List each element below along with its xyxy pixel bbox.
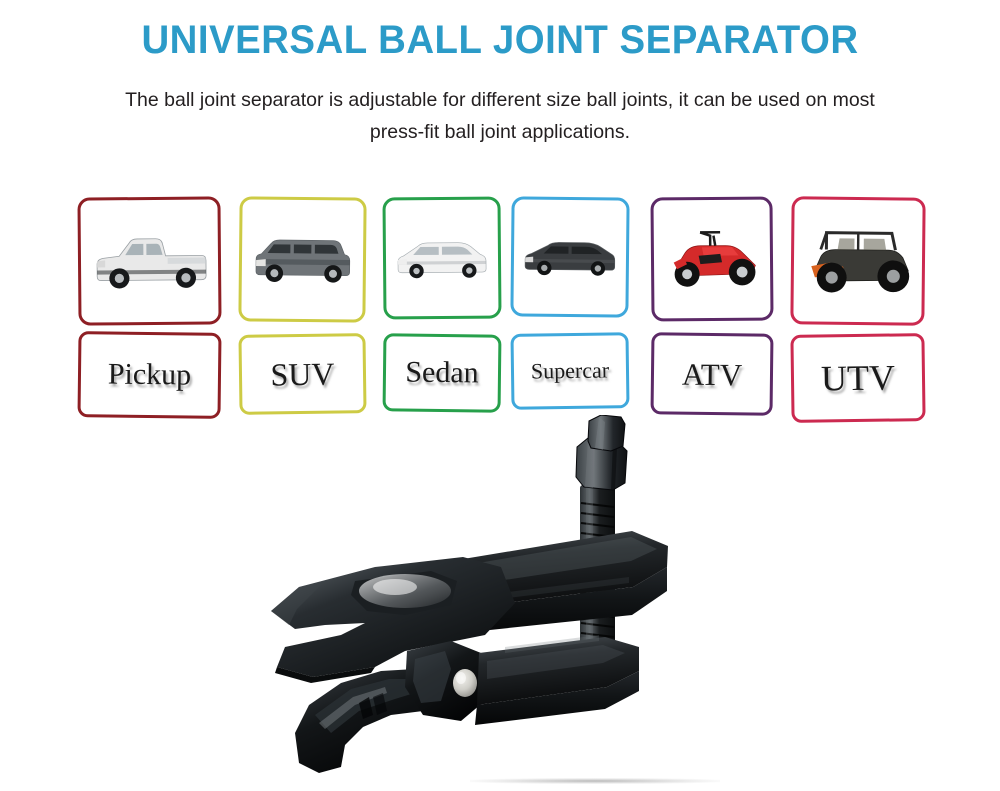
vehicle-label-frame-suv: SUV bbox=[238, 333, 366, 415]
vehicle-label-text: UTV bbox=[821, 359, 895, 396]
utv-icon bbox=[793, 199, 922, 322]
vehicle-photo-utv bbox=[790, 196, 925, 325]
vehicle-label-frame-atv: ATV bbox=[651, 332, 774, 415]
page-title: UNIVERSAL BALL JOINT SEPARATOR bbox=[20, 0, 980, 62]
vehicle-category-grid: Pickup SUV Sedan bbox=[0, 193, 1000, 443]
vehicle-label-frame-supercar: Supercar bbox=[510, 332, 629, 410]
pivot-pin-icon bbox=[453, 669, 477, 697]
vehicle-label-frame-pickup: Pickup bbox=[77, 331, 221, 419]
suv-icon bbox=[241, 199, 363, 319]
pickup-truck-icon bbox=[80, 199, 218, 322]
vehicle-label-text: Sedan bbox=[405, 358, 479, 389]
lower-bar-icon bbox=[475, 637, 639, 725]
subtitle-description: The ball joint separator is adjustable f… bbox=[120, 62, 880, 148]
vehicle-label-text: Supercar bbox=[531, 359, 609, 382]
atv-icon bbox=[653, 199, 770, 318]
vehicle-photo-suv bbox=[238, 196, 366, 322]
vehicle-label-text: Pickup bbox=[108, 359, 192, 390]
bolt-head-icon bbox=[588, 415, 625, 451]
header: UNIVERSAL BALL JOINT SEPARATOR The ball … bbox=[0, 0, 1000, 148]
vehicle-photo-supercar bbox=[510, 196, 629, 317]
vehicle-label-text: SUV bbox=[270, 358, 334, 391]
vehicle-label-frame-utv: UTV bbox=[790, 333, 925, 423]
vehicle-photo-sedan bbox=[382, 196, 501, 319]
vehicle-photo-pickup bbox=[77, 196, 221, 325]
vehicle-label-text: ATV bbox=[682, 358, 743, 390]
sedan-icon bbox=[385, 200, 498, 317]
product-infographic-page: UNIVERSAL BALL JOINT SEPARATOR The ball … bbox=[0, 0, 1000, 791]
supercar-icon bbox=[513, 199, 626, 314]
ball-joint-separator-image bbox=[255, 415, 675, 791]
vehicle-photo-atv bbox=[650, 196, 773, 321]
vehicle-label-frame-sedan: Sedan bbox=[383, 333, 502, 412]
